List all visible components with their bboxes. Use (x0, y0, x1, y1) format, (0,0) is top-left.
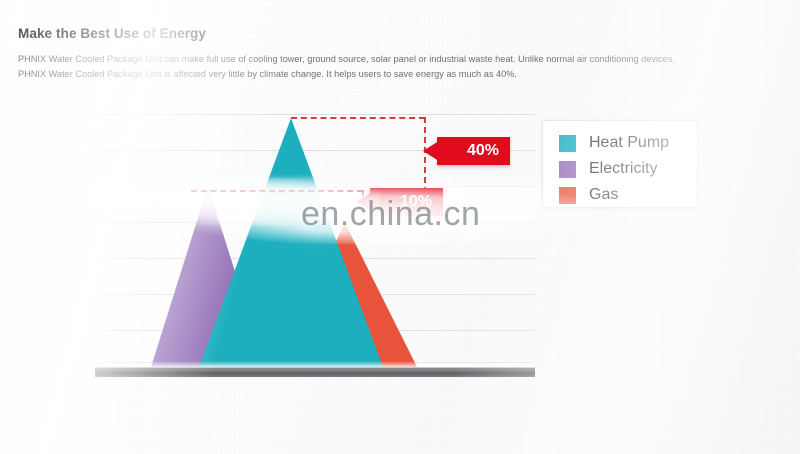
callout-arrow-icon (356, 188, 378, 216)
chart-legend: Heat Pump Electricity Gas (542, 120, 698, 208)
legend-swatch-gas (559, 187, 576, 204)
legend-label-heat-pump: Heat Pump (589, 134, 669, 152)
legend-swatch-electricity (559, 161, 576, 178)
legend-label-gas: Gas (589, 186, 618, 204)
page-canvas: Make the Best Use of Energy PHNIX Water … (0, 0, 800, 454)
callout-10-percent: 10% (370, 188, 443, 216)
page-title: Make the Best Use of Energy (18, 26, 206, 41)
legend-item-electricity: Electricity (559, 156, 697, 182)
callout-10-label: 10% (400, 193, 432, 211)
callout-arrow-icon (423, 137, 445, 165)
description-paragraph: PHNIX Water Cooled Package Unit can make… (18, 52, 700, 81)
chart-baseline (95, 367, 535, 377)
legend-swatch-heat-pump (559, 135, 576, 152)
callout-40-label: 40% (467, 142, 499, 160)
legend-item-gas: Gas (559, 182, 697, 208)
leader-line-10-horizontal (191, 190, 363, 192)
legend-item-heat-pump: Heat Pump (559, 130, 697, 156)
callout-40-percent: 40% (437, 137, 510, 165)
leader-line-40-horizontal (291, 117, 425, 119)
legend-label-electricity: Electricity (589, 160, 657, 178)
